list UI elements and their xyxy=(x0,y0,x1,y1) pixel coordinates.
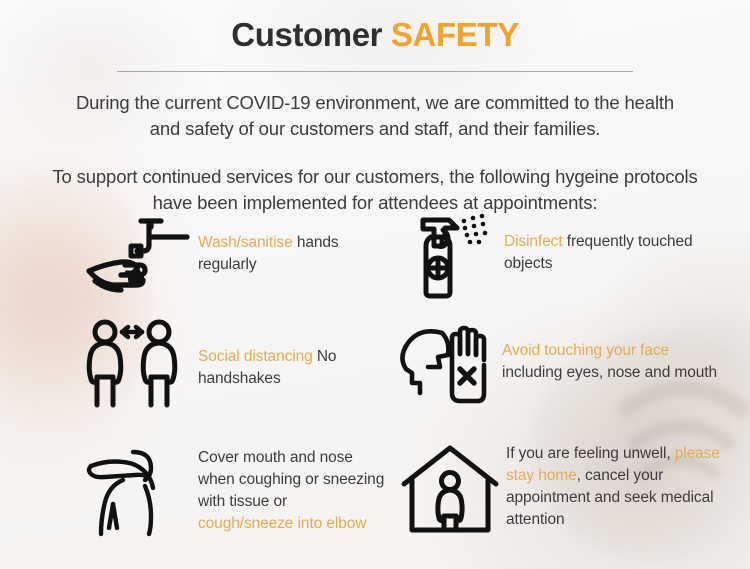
protocol-text-avoid-face-touching: Avoid touching your face including eyes,… xyxy=(502,324,718,384)
protocol-item-cover-cough: Cover mouth and nose when coughing or sn… xyxy=(80,441,385,537)
protocol-body: including eyes, nose and mouth xyxy=(502,364,717,381)
protocol-body: Cover mouth and nose when coughing or sn… xyxy=(198,449,384,510)
page-title-primary: Customer xyxy=(231,16,391,53)
spray-bottle-icon xyxy=(408,209,504,301)
protocol-text-disinfect: Disinfect frequently touched objects xyxy=(504,209,718,275)
protocol-text-cover-cough: Cover mouth and nose when coughing or sn… xyxy=(198,441,385,535)
protocol-highlight: Social distancing xyxy=(198,348,313,365)
protocol-grid: Wash/sanitise hands regularly xyxy=(0,206,750,569)
protocol-item-wash-hands: Wash/sanitise hands regularly xyxy=(80,214,380,294)
intro-paragraph-1: During the current COVID-19 environment,… xyxy=(65,72,685,143)
protocol-body-lead: If you are feeling unwell, xyxy=(506,445,675,462)
customer-safety-poster: Customer SAFETY During the current COVID… xyxy=(0,0,750,569)
protocol-item-stay-home: If you are feeling unwell, please stay h… xyxy=(398,439,728,543)
protocol-text-stay-home: If you are feeling unwell, please stay h… xyxy=(506,439,728,531)
person-in-house-icon xyxy=(398,439,506,543)
protocol-text-wash-hands: Wash/sanitise hands regularly xyxy=(198,214,380,276)
protocol-item-avoid-face-touching: Avoid touching your face including eyes,… xyxy=(398,324,718,406)
faucet-handwash-icon xyxy=(80,214,198,294)
cough-into-elbow-icon xyxy=(80,441,198,537)
head-hand-no-touch-icon xyxy=(398,324,502,406)
two-people-distance-icon xyxy=(80,318,198,410)
page-title-accent: SAFETY xyxy=(391,16,519,53)
protocol-highlight: cough/sneeze into elbow xyxy=(198,515,366,532)
page-title: Customer SAFETY xyxy=(0,0,750,55)
protocol-highlight: Wash/sanitise xyxy=(198,234,293,251)
protocol-item-disinfect: Disinfect frequently touched objects xyxy=(408,209,718,301)
protocol-text-social-distancing: Social distancing No handshakes xyxy=(198,318,380,390)
protocol-highlight: Disinfect xyxy=(504,233,563,250)
protocol-item-social-distancing: Social distancing No handshakes xyxy=(80,318,380,410)
protocol-highlight: Avoid touching your face xyxy=(502,342,669,359)
